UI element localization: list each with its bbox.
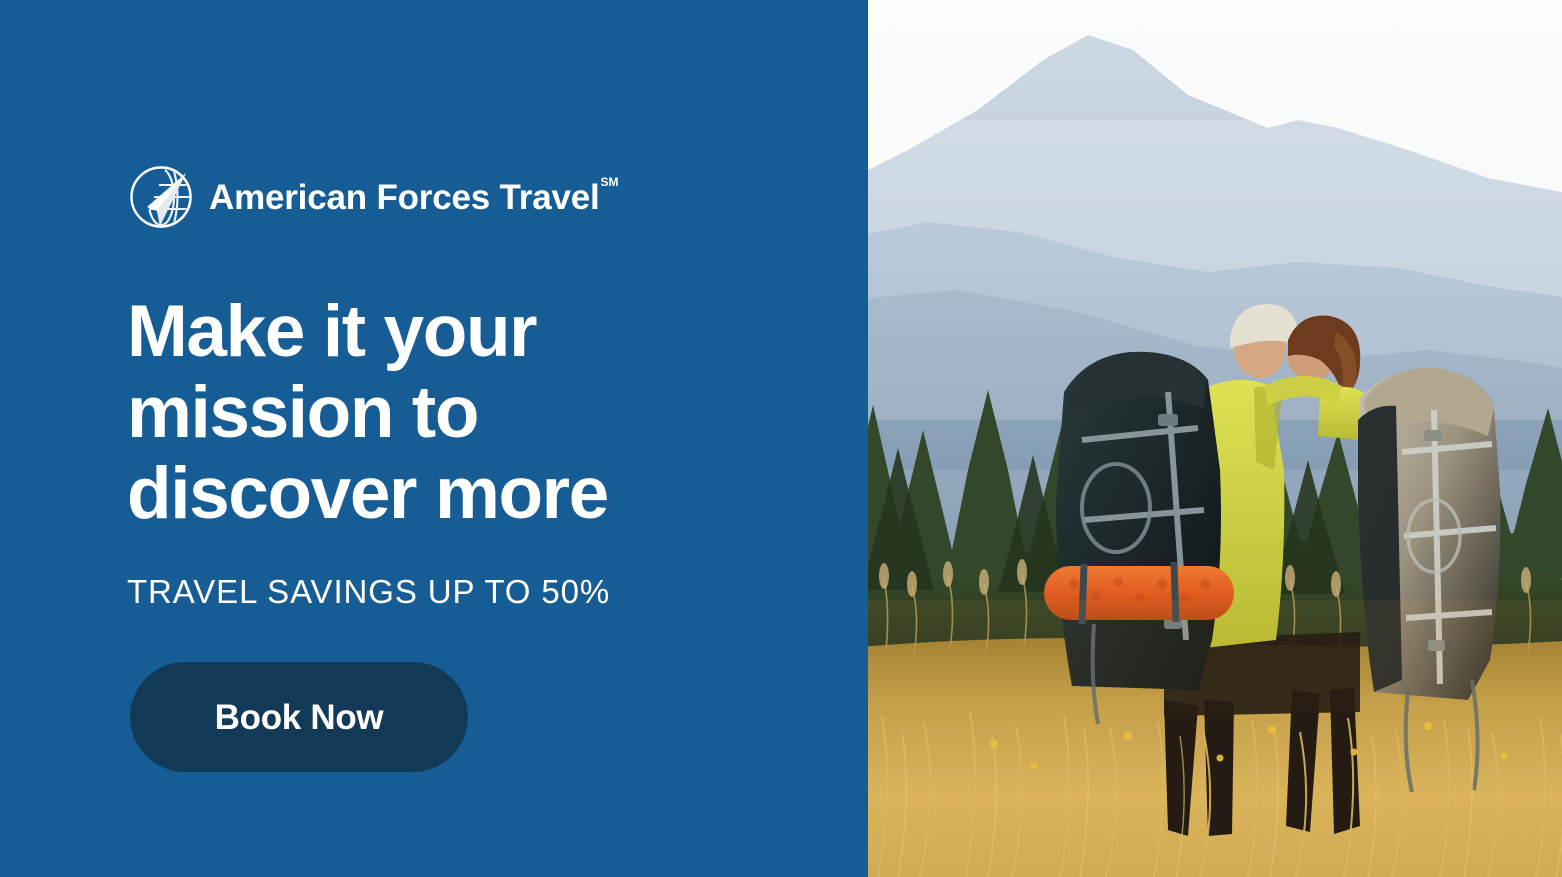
hikers-mountain-photograph [868,0,1562,877]
service-mark-text: SM [601,175,619,189]
left-content-panel: American Forces TravelSM Make it your mi… [0,0,868,877]
brand-wordmark: American Forces TravelSM [209,180,618,215]
brand-name-text: American Forces Travel [209,178,600,217]
promo-banner: American Forces TravelSM Make it your mi… [0,0,1562,877]
brand-logo-lockup[interactable]: American Forces TravelSM [127,163,618,231]
compass-globe-icon [127,163,195,231]
hero-photo [868,0,1562,877]
headline-line-1: Make it your [127,291,608,372]
headline: Make it your mission to discover more [127,291,608,534]
book-now-button[interactable]: Book Now [130,662,468,772]
subheadline: TRAVEL SAVINGS UP TO 50% [127,573,610,611]
headline-line-2: mission to [127,372,608,453]
headline-line-3: discover more [127,453,608,534]
